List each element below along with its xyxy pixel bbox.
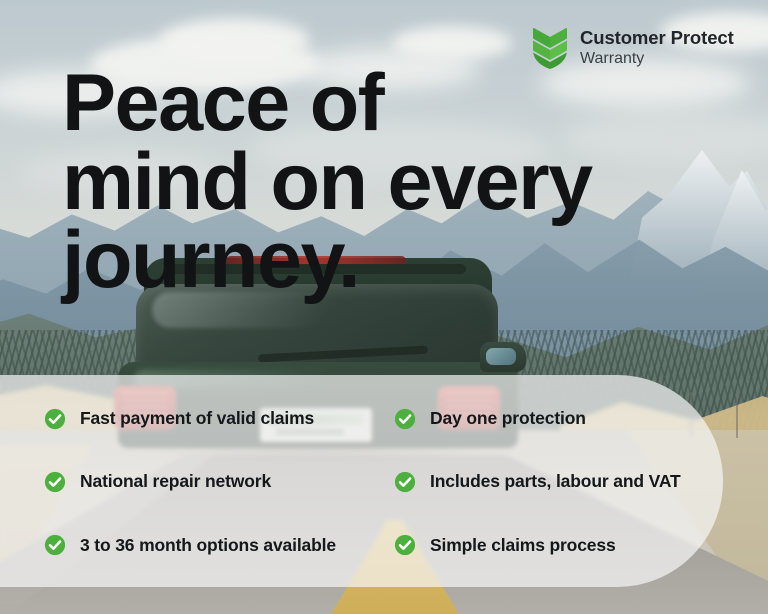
cloud (392, 26, 512, 60)
feature-item: Simple claims process (394, 534, 768, 556)
check-circle-icon (394, 471, 416, 493)
feature-label: Day one protection (430, 408, 586, 429)
check-circle-icon (44, 471, 66, 493)
feature-item: Fast payment of valid claims (44, 408, 394, 430)
feature-item: Includes parts, labour and VAT (394, 471, 768, 493)
brand-subtitle: Warranty (580, 51, 734, 67)
car-mirror-glass (486, 348, 516, 365)
marketing-banner: Customer Protect Warranty Peace of mind … (0, 0, 768, 614)
cloud (160, 18, 310, 62)
feature-label: Fast payment of valid claims (80, 408, 314, 429)
check-circle-icon (394, 408, 416, 430)
feature-item: 3 to 36 month options available (44, 534, 394, 556)
headline: Peace of mind on every journey. (62, 64, 592, 300)
check-circle-icon (44, 408, 66, 430)
check-circle-icon (394, 534, 416, 556)
brand-logo-text: Customer Protect Warranty (580, 29, 734, 68)
feature-label: 3 to 36 month options available (80, 535, 336, 556)
check-circle-icon (44, 534, 66, 556)
feature-item: National repair network (44, 471, 394, 493)
feature-label: Simple claims process (430, 535, 616, 556)
feature-label: Includes parts, labour and VAT (430, 471, 681, 492)
feature-item: Day one protection (394, 408, 768, 430)
brand-name: Customer Protect (580, 29, 734, 48)
feature-list: Fast payment of valid claims Day one pro… (0, 375, 768, 587)
feature-label: National repair network (80, 471, 271, 492)
